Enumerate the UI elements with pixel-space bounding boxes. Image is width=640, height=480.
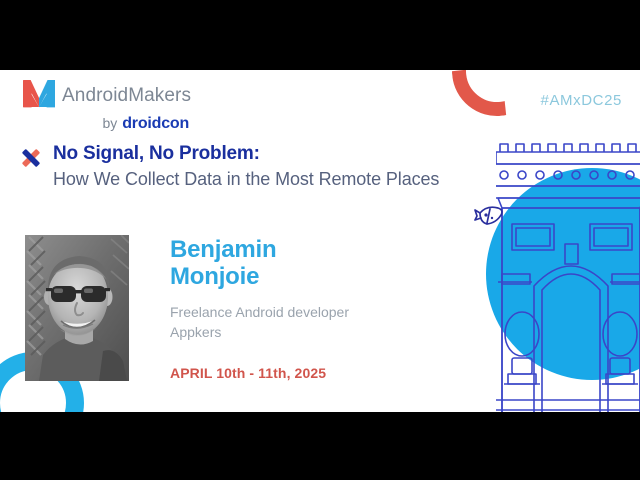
arc-de-triomphe-illustration — [496, 118, 640, 412]
brand-top-line: AndroidMakers — [22, 78, 191, 113]
androidmakers-brand-lockup: AndroidMakers by droidcon — [22, 78, 191, 132]
letterbox-bar-bottom — [0, 412, 640, 480]
speaker-name-line-1: Benjamin — [170, 236, 349, 263]
talk-title-block: No Signal, No Problem: How We Collect Da… — [18, 142, 439, 191]
brand-byline: by droidcon — [102, 116, 191, 132]
speaker-company-text: Appkers — [170, 322, 349, 342]
x-cross-icon — [18, 145, 44, 176]
bird-doodle-icon — [474, 202, 506, 237]
slide-canvas: AndroidMakers by droidcon #AMxDC25 No Si… — [0, 70, 640, 412]
letterbox-bar-top — [0, 0, 640, 70]
byline-prefix-text: by — [102, 116, 117, 130]
speaker-role-text: Freelance Android developer — [170, 302, 349, 322]
androidmakers-m-logo-icon — [22, 78, 56, 113]
talk-title-sub-text: How We Collect Data in the Most Remote P… — [53, 168, 439, 191]
speaker-info-block: Benjamin Monjoie Freelance Android devel… — [170, 236, 349, 381]
byline-brand-text: droidcon — [122, 116, 189, 132]
title-lines: No Signal, No Problem: How We Collect Da… — [53, 142, 439, 191]
speaker-name-line-2: Monjoie — [170, 263, 349, 290]
conference-slide-frame: AndroidMakers by droidcon #AMxDC25 No Si… — [0, 0, 640, 480]
event-hashtag-text: #AMxDC25 — [541, 92, 623, 109]
event-dates-text: APRIL 10th - 11th, 2025 — [170, 365, 349, 381]
speaker-headshot-photo — [25, 235, 129, 381]
talk-title-main-text: No Signal, No Problem: — [53, 142, 439, 165]
brand-wordmark-text: AndroidMakers — [62, 86, 191, 105]
slide-header: AndroidMakers by droidcon #AMxDC25 — [0, 70, 640, 136]
